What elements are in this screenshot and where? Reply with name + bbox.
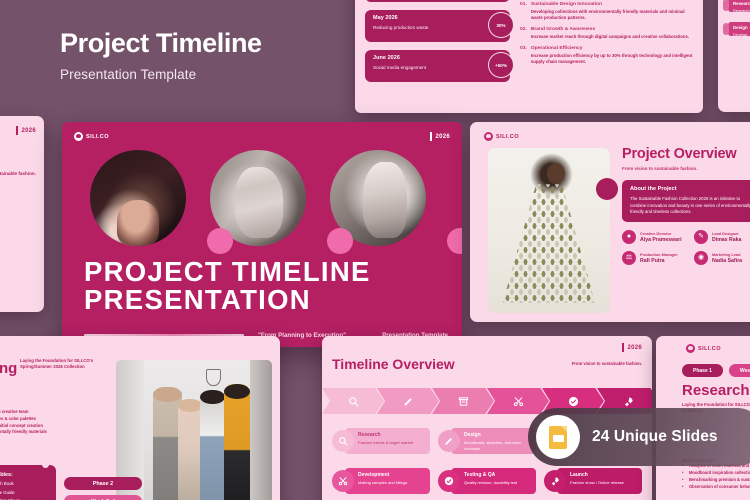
slide-far-right-peek[interactable]: 2026 Q4 Research Research Design Develop <box>718 0 750 112</box>
accent-dot <box>327 228 353 254</box>
objective-number: 03. <box>520 46 527 66</box>
activity-item: Benchmarking premium & sustainable brand… <box>682 477 750 484</box>
photo-lamp <box>206 369 220 386</box>
deliverables-card: Deliverables: Initial Sketch Book Color … <box>0 465 56 500</box>
peek-row: Design Develop <box>728 22 750 36</box>
pen-icon <box>444 436 454 446</box>
activity-item: Moodboard inspiration collection & refer… <box>682 470 750 477</box>
milestone-card[interactable]: June 2026 Social media engagement +50% <box>365 50 510 82</box>
step-title: Research <box>358 432 425 438</box>
person-name: Rafi Putra <box>640 258 678 264</box>
brand-name: SILI.CO <box>698 346 721 352</box>
objective-number: 02. <box>520 27 527 41</box>
person-card[interactable]: ● Creative Director Alya Prameswari <box>622 230 688 244</box>
arrow-step[interactable] <box>377 388 439 414</box>
overview-model-photo <box>488 148 610 313</box>
peek-row-sub: Develop <box>733 32 750 37</box>
person-name: Alya Prameswari <box>640 237 682 243</box>
person-card[interactable]: ⚖ Production Manager Rafi Putra <box>622 251 688 265</box>
week-pill[interactable]: Week 1–2 <box>729 364 750 377</box>
person-name: Dimas Raka <box>712 237 741 243</box>
peek-row-sub: Research <box>733 8 750 13</box>
slide-planning[interactable]: SILI.CO Planning Laying the Foundation f… <box>0 336 280 500</box>
check-circle-icon <box>444 476 454 486</box>
user-icon: ● <box>622 230 636 244</box>
step-desc: Fashion show / Online release <box>570 480 637 486</box>
photo-pattern <box>503 184 596 303</box>
phase-pill[interactable]: Phase 1 <box>682 364 723 377</box>
week-pill[interactable]: Week 3–4 <box>64 495 142 500</box>
photo-person <box>200 390 225 500</box>
timeline-step[interactable]: Research Fashion trends & target market <box>332 426 430 456</box>
overview-subtitle: From vision to sustainable fashion. <box>622 166 750 171</box>
step-desc: Quality revision, durability test <box>464 480 531 486</box>
milestone-badge: +50% <box>488 52 514 78</box>
milestone-card[interactable]: May 2026 Reducing production waste 30% <box>365 10 510 42</box>
planning-activities: Main Activities: Brainstorm design with … <box>0 404 64 436</box>
year-badge: 2026 <box>622 343 642 352</box>
photo-person <box>178 399 201 500</box>
photo-person <box>153 387 181 500</box>
check-circle-icon <box>568 396 579 407</box>
person-role: Lead Designer <box>712 231 741 236</box>
brand-logo: SILI.CO <box>484 132 519 141</box>
objective-number: 01. <box>520 2 527 22</box>
brand-name: SILI.CO <box>496 134 519 140</box>
timeline-step[interactable]: Launch Fashion show / Online release <box>544 466 642 496</box>
about-body: The Sustainable Fashion Collection 2026 … <box>630 196 750 216</box>
poster-header: Project Timeline Presentation Template <box>60 30 262 82</box>
deliverables-head: Deliverables: <box>0 472 50 478</box>
milestone-card[interactable]: April 2026 Production ready design colle… <box>365 0 510 2</box>
milestone-title: May 2026 <box>373 15 502 21</box>
objective-body: Increase market reach through digital ca… <box>531 34 689 41</box>
rocket-icon <box>550 476 560 486</box>
photo-head <box>547 163 565 184</box>
timeline-step[interactable]: Design Moodboard, sketches, and color co… <box>438 426 536 456</box>
pen-icon <box>403 396 414 407</box>
slide-count-badge: 24 Unique Slides <box>528 408 750 466</box>
pen-icon: ✎ <box>694 230 708 244</box>
arrow-step[interactable] <box>432 388 494 414</box>
objective-body: Increase production efficiency by up to … <box>531 53 693 66</box>
step-title: Launch <box>570 472 637 478</box>
person-role: Creative Director <box>640 231 682 236</box>
step-desc: Fashion trends & target market <box>358 440 425 446</box>
slides-doc-shape <box>549 426 567 449</box>
objective-head: Sustainable Design Innovation <box>531 2 693 7</box>
year-badge: 2026 <box>16 126 36 135</box>
scissors-icon <box>338 476 348 486</box>
milestone-desc: Reducing production waste <box>373 25 502 30</box>
objective-item: 03. Operational Efficiency Increase prod… <box>520 46 693 66</box>
about-head: About the Project <box>630 186 750 192</box>
photo-image <box>90 150 186 246</box>
hero-photo-row <box>90 150 426 246</box>
search-icon <box>348 396 359 407</box>
search-icon <box>338 436 348 446</box>
objective-item: 02. Brand Growth & Awareness Increase ma… <box>520 27 693 41</box>
step-title: Testing & QA <box>464 472 531 478</box>
step-desc: Making samples and fittings <box>358 480 425 486</box>
step-title: Development <box>358 472 425 478</box>
objective-head: Brand Growth & Awareness <box>531 27 689 32</box>
activity-item: Observation of consumer behavior and mar… <box>682 484 750 491</box>
milestone-title: June 2026 <box>373 55 502 61</box>
scissors-icon <box>513 396 524 407</box>
timeline-title: Timeline Overview <box>332 356 455 372</box>
arrow-step[interactable] <box>487 388 549 414</box>
hero-topbar: SILI.CO 2026 <box>74 132 450 141</box>
deliverable-item: Initial Sketch Book <box>0 481 50 486</box>
photo-person <box>224 384 251 500</box>
flower-icon <box>74 132 83 141</box>
archive-icon <box>458 396 469 407</box>
arrow-step[interactable] <box>322 388 384 414</box>
hero-title-line2: PRESENTATION <box>84 286 371 314</box>
person-card[interactable]: ◉ Marketing Lead Nadia Safira <box>694 251 750 265</box>
poster-canvas: April 2026 Production ready design colle… <box>0 0 750 500</box>
slide-milestones[interactable]: April 2026 Production ready design colle… <box>355 0 703 113</box>
phase-pill[interactable]: Phase 2 <box>64 477 142 490</box>
about-card: About the Project The Sustainable Fashio… <box>622 180 750 222</box>
slide-count-label: 24 Unique Slides <box>592 428 718 446</box>
hero-title: PROJECT TIMELINE PRESENTATION <box>84 258 371 315</box>
flower-icon <box>484 132 493 141</box>
research-title: Research & <box>682 382 750 399</box>
activity-item: Explore the main shapes & color palettes <box>0 416 64 423</box>
slide-left-peek[interactable]: 2026 From vision to sustainable fashion. <box>0 116 44 312</box>
activity-item: Selection of environmentally friendly ma… <box>0 429 64 436</box>
rocket-icon <box>623 396 634 407</box>
people-grid: ● Creative Director Alya Prameswari ✎ Le… <box>622 230 750 265</box>
photo-wall-right <box>250 360 272 500</box>
brand-logo: SILI.CO <box>686 344 721 353</box>
peek-row-head: Design <box>733 25 750 30</box>
left-peek-text: From vision to sustainable fashion. <box>0 170 36 177</box>
overview-content: Project Overview From vision to sustaina… <box>622 146 750 265</box>
factory-icon: ⚖ <box>622 251 636 265</box>
timeline-subtitle: From vision to sustainable fashion. <box>572 361 642 366</box>
year-label: 2026 <box>21 128 36 134</box>
flower-icon <box>686 344 695 353</box>
peek-row-head: Research <box>733 1 750 6</box>
accent-dot <box>596 178 618 200</box>
megaphone-icon: ◉ <box>694 251 708 265</box>
milestone-desc: Social media engagement <box>373 65 502 70</box>
phase-pill-group: Phase 2 Week 3–4 <box>64 472 142 500</box>
accent-dot <box>207 228 233 254</box>
step-desc: Moodboard, sketches, and color concepts <box>464 440 531 451</box>
slide-project-overview[interactable]: SILI.CO Project Overview From vision to … <box>470 122 750 322</box>
overview-title: Project Overview <box>622 146 750 162</box>
deliverable-item: Color Palette Guide <box>0 490 50 495</box>
person-name: Nadia Safira <box>712 258 742 264</box>
slide-hero[interactable]: SILI.CO 2026 PROJECT TIMELINE PRESENTATI… <box>62 122 462 347</box>
model-photo-1 <box>90 150 186 246</box>
activity-item: Brainstorm design with creative team <box>0 409 64 416</box>
year-bar <box>430 132 432 141</box>
milestone-column: April 2026 Production ready design colle… <box>365 0 510 105</box>
objective-body: Developing collections with environmenta… <box>531 9 693 22</box>
planning-title: Planning <box>0 360 17 377</box>
brand-name: SILI.CO <box>86 134 109 140</box>
objectives-column: SILI.CO's Spring/Summer 2026 collection … <box>520 0 693 105</box>
objective-item: 01. Sustainable Design Innovation Develo… <box>520 2 693 22</box>
activity-item: Digital sketching and initial concept cr… <box>0 423 64 430</box>
person-role: Marketing Lead <box>712 252 742 257</box>
timeline-step[interactable]: Development Making samples and fittings <box>332 466 430 496</box>
objective-head: Operational Efficiency <box>531 46 693 51</box>
step-title: Design <box>464 432 531 438</box>
year-label: 2026 <box>435 134 450 140</box>
peek-row: Research Research <box>728 0 750 12</box>
hero-title-line1: PROJECT TIMELINE <box>84 258 371 286</box>
year-bar <box>16 126 18 135</box>
year-badge: 2026 <box>430 132 450 141</box>
brand-logo: SILI.CO <box>74 132 109 141</box>
timeline-step[interactable]: Testing & QA Quality revision, durabilit… <box>438 466 536 496</box>
person-card[interactable]: ✎ Lead Designer Dimas Raka <box>694 230 750 244</box>
accent-dot <box>447 228 462 254</box>
page-title: Project Timeline <box>60 30 262 57</box>
planning-caption: Laying the Foundation for SILI.CO's Spri… <box>20 358 98 371</box>
page-subtitle: Presentation Template <box>60 67 262 82</box>
year-bar <box>622 343 624 352</box>
person-role: Production Manager <box>640 252 678 257</box>
google-slides-icon <box>536 415 580 459</box>
milestone-badge: 30% <box>488 12 514 38</box>
research-pill-group: Phase 1 Week 1–2 <box>682 364 750 377</box>
year-label: 2026 <box>627 345 642 351</box>
